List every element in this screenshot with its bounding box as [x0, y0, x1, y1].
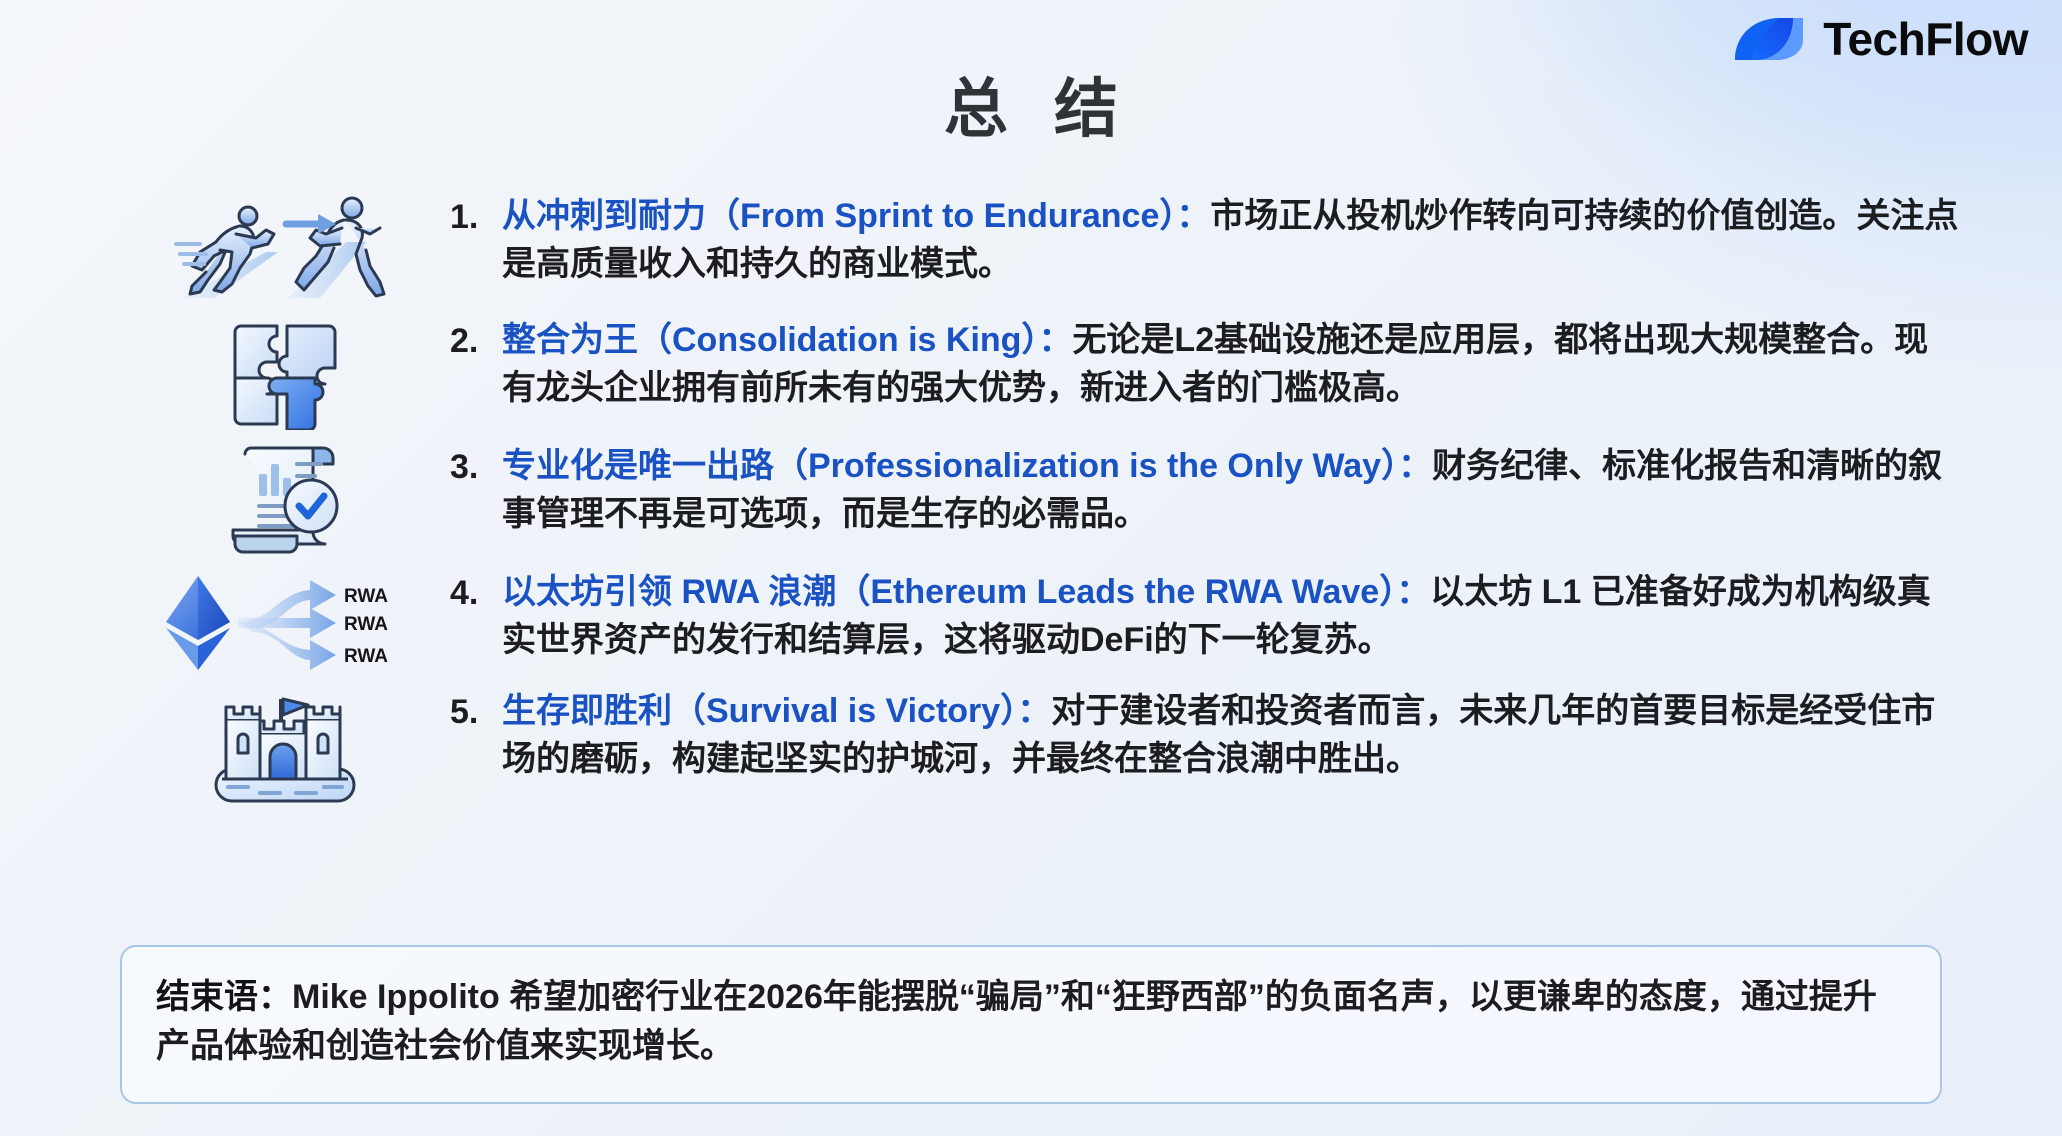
rwa-labels: RWA RWA RWA [344, 586, 388, 667]
item-separator: ： [1017, 692, 1051, 730]
item-number: 3. [450, 442, 502, 491]
item-text-cell: 1. 从冲刺到耐力（From Sprint to Endurance）：市场正从… [450, 190, 1960, 289]
slide-root: TechFlow 总 结 [0, 0, 2062, 1136]
item-body: 从冲刺到耐力（From Sprint to Endurance）：市场正从投机炒… [502, 192, 1960, 289]
list-item: 2. 整合为王（Consolidation is King）：无论是L2基础设施… [120, 314, 1960, 430]
item-separator: ： [1398, 447, 1432, 485]
conclusion-label: 结束语： [156, 978, 292, 1016]
brand-logo: TechFlow [1733, 14, 2028, 64]
ethereum-rwa-arrows-icon: RWA RWA RWA [160, 570, 410, 675]
ethereum-diamond-icon [166, 576, 230, 670]
item-icon-cell [120, 685, 450, 807]
list-item: 5. 生存即胜利（Survival is Victory）：对于建设者和投资者而… [120, 685, 1960, 807]
conclusion-box: 结束语：Mike Ippolito 希望加密行业在2026年能摆脱“骗局”和“狂… [120, 945, 1942, 1104]
item-icon-cell [120, 314, 450, 430]
item-separator: ： [1396, 573, 1430, 611]
summary-list: 1. 从冲刺到耐力（From Sprint to Endurance）：市场正从… [120, 190, 1960, 807]
flow-arrows [238, 580, 336, 670]
item-number: 1. [450, 192, 502, 241]
item-number: 4. [450, 568, 502, 617]
conclusion-text: 结束语：Mike Ippolito 希望加密行业在2026年能摆脱“骗局”和“狂… [156, 973, 1906, 1072]
rwa-label: RWA [344, 646, 388, 667]
item-heading: 专业化是唯一出路（Professionalization is the Only… [502, 447, 1398, 485]
rwa-label: RWA [344, 586, 388, 607]
item-heading: 整合为王（Consolidation is King） [502, 321, 1038, 359]
list-item: 1. 从冲刺到耐力（From Sprint to Endurance）：市场正从… [120, 190, 1960, 304]
castle-moat-icon [210, 689, 360, 807]
jigsaw-puzzle-icon [225, 318, 345, 430]
item-text-cell: 2. 整合为王（Consolidation is King）：无论是L2基础设施… [450, 314, 1960, 413]
item-body: 整合为王（Consolidation is King）：无论是L2基础设施还是应… [502, 316, 1960, 413]
item-body: 生存即胜利（Survival is Victory）：对于建设者和投资者而言，未… [502, 687, 1960, 784]
list-item: RWA RWA RWA 4. 以太坊引领 RWA 浪潮（Ethereum Lea… [120, 566, 1960, 675]
item-number: 2. [450, 316, 502, 365]
brand-name: TechFlow [1823, 16, 2028, 62]
item-text-cell: 5. 生存即胜利（Survival is Victory）：对于建设者和投资者而… [450, 685, 1960, 784]
item-text-cell: 3. 专业化是唯一出路（Professionalization is the O… [450, 440, 1960, 539]
techflow-leaf-logo-icon [1733, 14, 1807, 64]
item-body: 以太坊引领 RWA 浪潮（Ethereum Leads the RWA Wave… [502, 568, 1960, 665]
item-icon-cell [120, 440, 450, 556]
item-body: 专业化是唯一出路（Professionalization is the Only… [502, 442, 1960, 539]
item-heading: 生存即胜利（Survival is Victory） [502, 692, 1017, 730]
two-runners-icon [170, 194, 400, 304]
page-title: 总 结 [0, 58, 2062, 150]
report-document-check-icon [225, 444, 345, 556]
item-icon-cell [120, 190, 450, 304]
item-text-cell: 4. 以太坊引领 RWA 浪潮（Ethereum Leads the RWA W… [450, 566, 1960, 665]
item-heading: 以太坊引领 RWA 浪潮（Ethereum Leads the RWA Wave… [502, 573, 1396, 611]
list-item: 3. 专业化是唯一出路（Professionalization is the O… [120, 440, 1960, 556]
item-heading: 从冲刺到耐力（From Sprint to Endurance） [502, 197, 1176, 235]
item-separator: ： [1038, 321, 1072, 359]
conclusion-body: Mike Ippolito 希望加密行业在2026年能摆脱“骗局”和“狂野西部”… [156, 978, 1877, 1065]
rwa-label: RWA [344, 614, 388, 635]
item-icon-cell: RWA RWA RWA [120, 566, 450, 675]
item-separator: ： [1176, 197, 1210, 235]
item-number: 5. [450, 687, 502, 736]
